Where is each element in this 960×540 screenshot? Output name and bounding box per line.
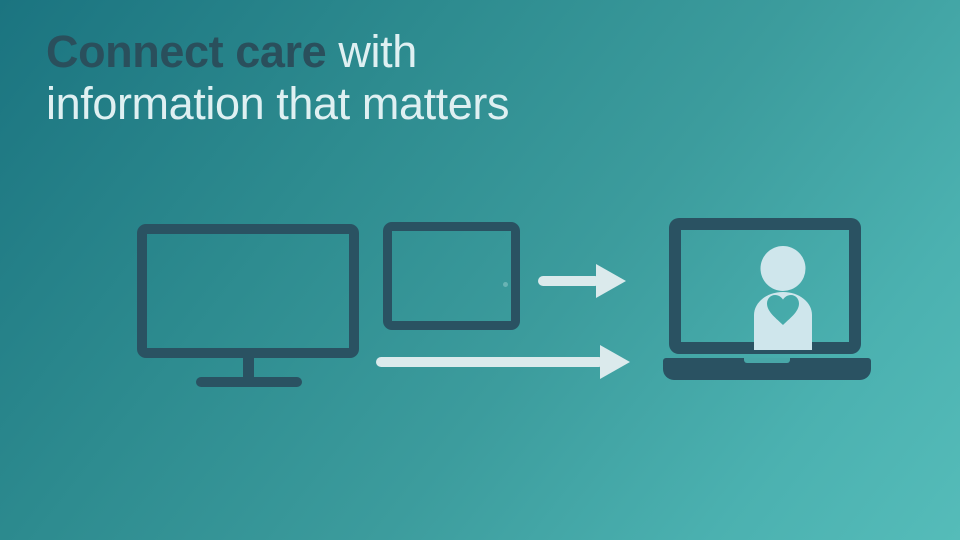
person-with-heart-icon — [736, 246, 830, 350]
laptop-icon — [663, 218, 871, 383]
slide-canvas: Connect care with information that matte… — [0, 0, 960, 540]
laptop-trackpad-notch — [744, 358, 790, 363]
arrow-tablet-to-laptop-icon — [538, 260, 628, 302]
monitor-screen — [137, 224, 359, 358]
laptop-screen — [669, 218, 861, 354]
illustration-stage — [0, 0, 960, 540]
monitor-stand-base — [196, 377, 302, 387]
desktop-monitor-icon — [137, 224, 359, 386]
arrow-desktop-to-laptop-icon — [376, 341, 632, 383]
tablet-body — [383, 222, 520, 330]
tablet-icon — [383, 222, 520, 330]
tablet-home-button-icon — [503, 282, 508, 287]
